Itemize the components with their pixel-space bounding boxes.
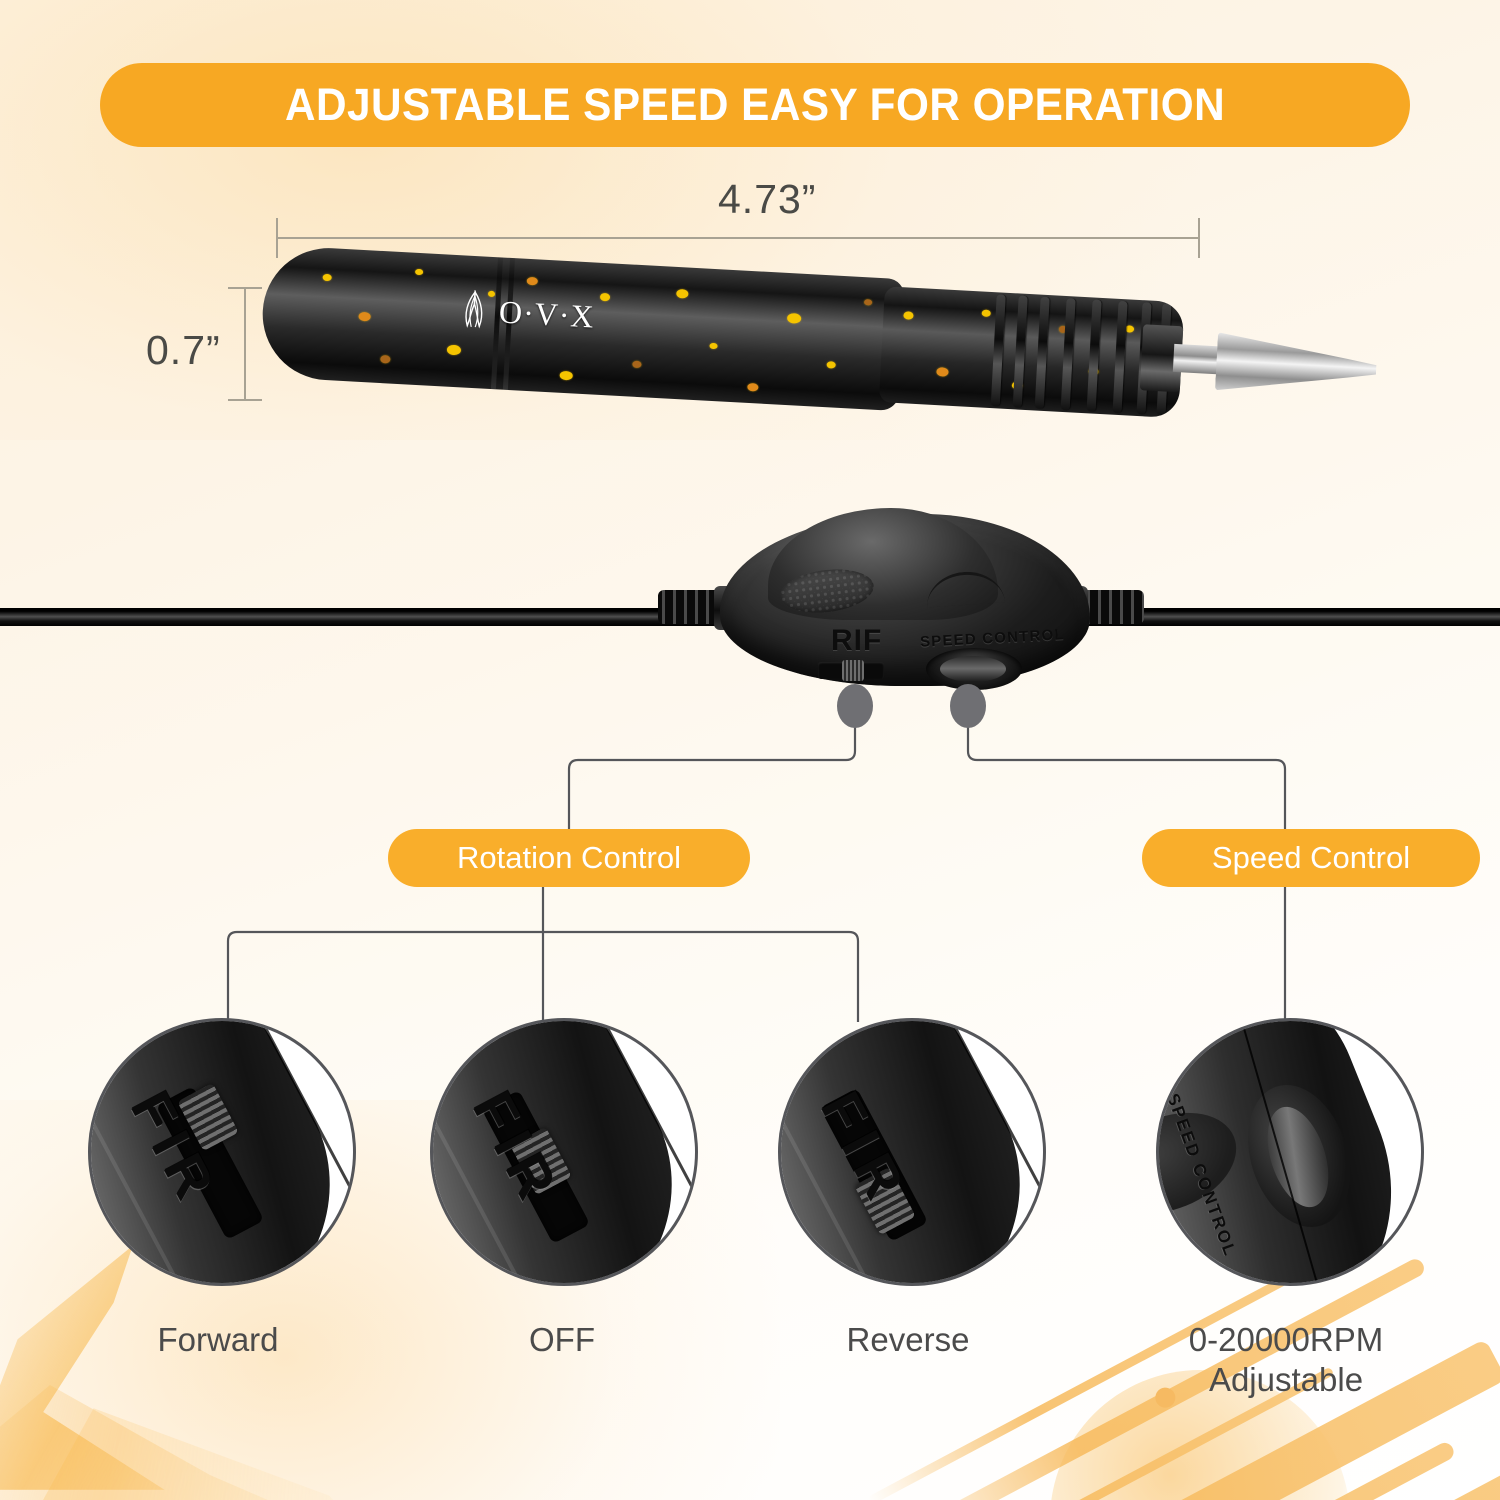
- header-title: ADJUSTABLE SPEED EASY FOR OPERATION: [285, 79, 1225, 131]
- callout-speed-control: Speed Control: [1142, 829, 1480, 887]
- glitter-fleck: [982, 309, 991, 316]
- height-dimension-cap-top: [228, 287, 262, 289]
- grip-rib: [1113, 301, 1128, 413]
- grip-rib: [1035, 297, 1050, 409]
- ribbon-shape-2: [0, 1270, 330, 1500]
- caption-speed-line1: 0-20000RPM: [1126, 1320, 1446, 1360]
- caption-off-line1: OFF: [402, 1320, 722, 1360]
- handpiece-grip-section: [879, 286, 1185, 418]
- caption-reverse: Reverse: [748, 1320, 1068, 1360]
- height-dimension-line: [244, 287, 246, 400]
- header-banner: ADJUSTABLE SPEED EASY FOR OPERATION: [100, 63, 1410, 147]
- glitter-fleck: [322, 274, 331, 281]
- detail-circle-off: FIR: [430, 1018, 698, 1286]
- glitter-fleck: [903, 311, 913, 320]
- glitter-fleck: [632, 361, 641, 368]
- rotation-switch-label: RIF: [831, 624, 882, 658]
- speed-dial-wheel[interactable]: [940, 656, 1006, 682]
- glitter-fleck: [380, 355, 390, 364]
- glitter-fleck: [709, 343, 717, 349]
- length-dimension-line: [276, 237, 1200, 239]
- glitter-fleck: [827, 361, 836, 368]
- grip-rib: [1087, 299, 1102, 411]
- switch-housing: [430, 1018, 698, 1286]
- grip-rib: [1061, 298, 1076, 410]
- glitter-fleck: [1125, 325, 1134, 332]
- stripe: [998, 1452, 1500, 1500]
- glitter-fleck: [415, 269, 423, 275]
- caption-speed: 0-20000RPM Adjustable: [1126, 1320, 1446, 1401]
- glitter-fleck: [358, 312, 370, 322]
- glitter-fleck: [559, 371, 572, 381]
- glitter-fleck: [676, 289, 688, 299]
- callout-speed-label: Speed Control: [1212, 840, 1410, 876]
- length-dimension-cap-right: [1198, 218, 1200, 258]
- detail-circle-forward: FIR: [88, 1018, 356, 1286]
- brand-logo: O·V·X: [458, 289, 596, 336]
- caption-forward-line1: Forward: [58, 1320, 378, 1360]
- glitter-fleck: [936, 367, 948, 377]
- inline-controller: RIF SPEED CONTROL: [648, 508, 1178, 708]
- switch-housing: [778, 1018, 1046, 1286]
- detail-circle-speed-dial: SPEED CONTROL: [1156, 1018, 1424, 1286]
- caption-forward: Forward: [58, 1320, 378, 1360]
- glitter-fleck: [447, 345, 462, 356]
- glitter-fleck: [864, 299, 872, 305]
- brand-wordmark: O·V·X: [498, 293, 596, 335]
- caption-off: OFF: [402, 1320, 722, 1360]
- callout-rotation-control: Rotation Control: [388, 829, 750, 887]
- height-dimension-cap-bottom: [228, 399, 262, 401]
- grip-rib: [991, 294, 1006, 406]
- glitter-fleck: [527, 277, 538, 286]
- stripe: [971, 1440, 1456, 1500]
- caption-speed-line2: Adjustable: [1126, 1360, 1446, 1400]
- height-dimension-label: 0.7”: [146, 327, 221, 374]
- glitter-fleck: [747, 383, 758, 392]
- grip-rib: [1013, 295, 1028, 407]
- glitter-fleck: [787, 313, 802, 324]
- detail-circle-reverse: FIR: [778, 1018, 1046, 1286]
- rotation-switch-knob[interactable]: [842, 660, 864, 681]
- glitter-fleck: [600, 293, 610, 302]
- drill-bit: [1215, 332, 1378, 399]
- leaf-petal-logo-icon: [458, 289, 490, 331]
- caption-reverse-line1: Reverse: [748, 1320, 1068, 1360]
- infographic-canvas: ADJUSTABLE SPEED EASY FOR OPERATION 4.73…: [0, 0, 1500, 1500]
- length-dimension-label: 4.73”: [718, 176, 816, 223]
- nail-drill-handpiece: O·V·X: [258, 233, 1205, 444]
- callout-rotation-label: Rotation Control: [457, 840, 681, 876]
